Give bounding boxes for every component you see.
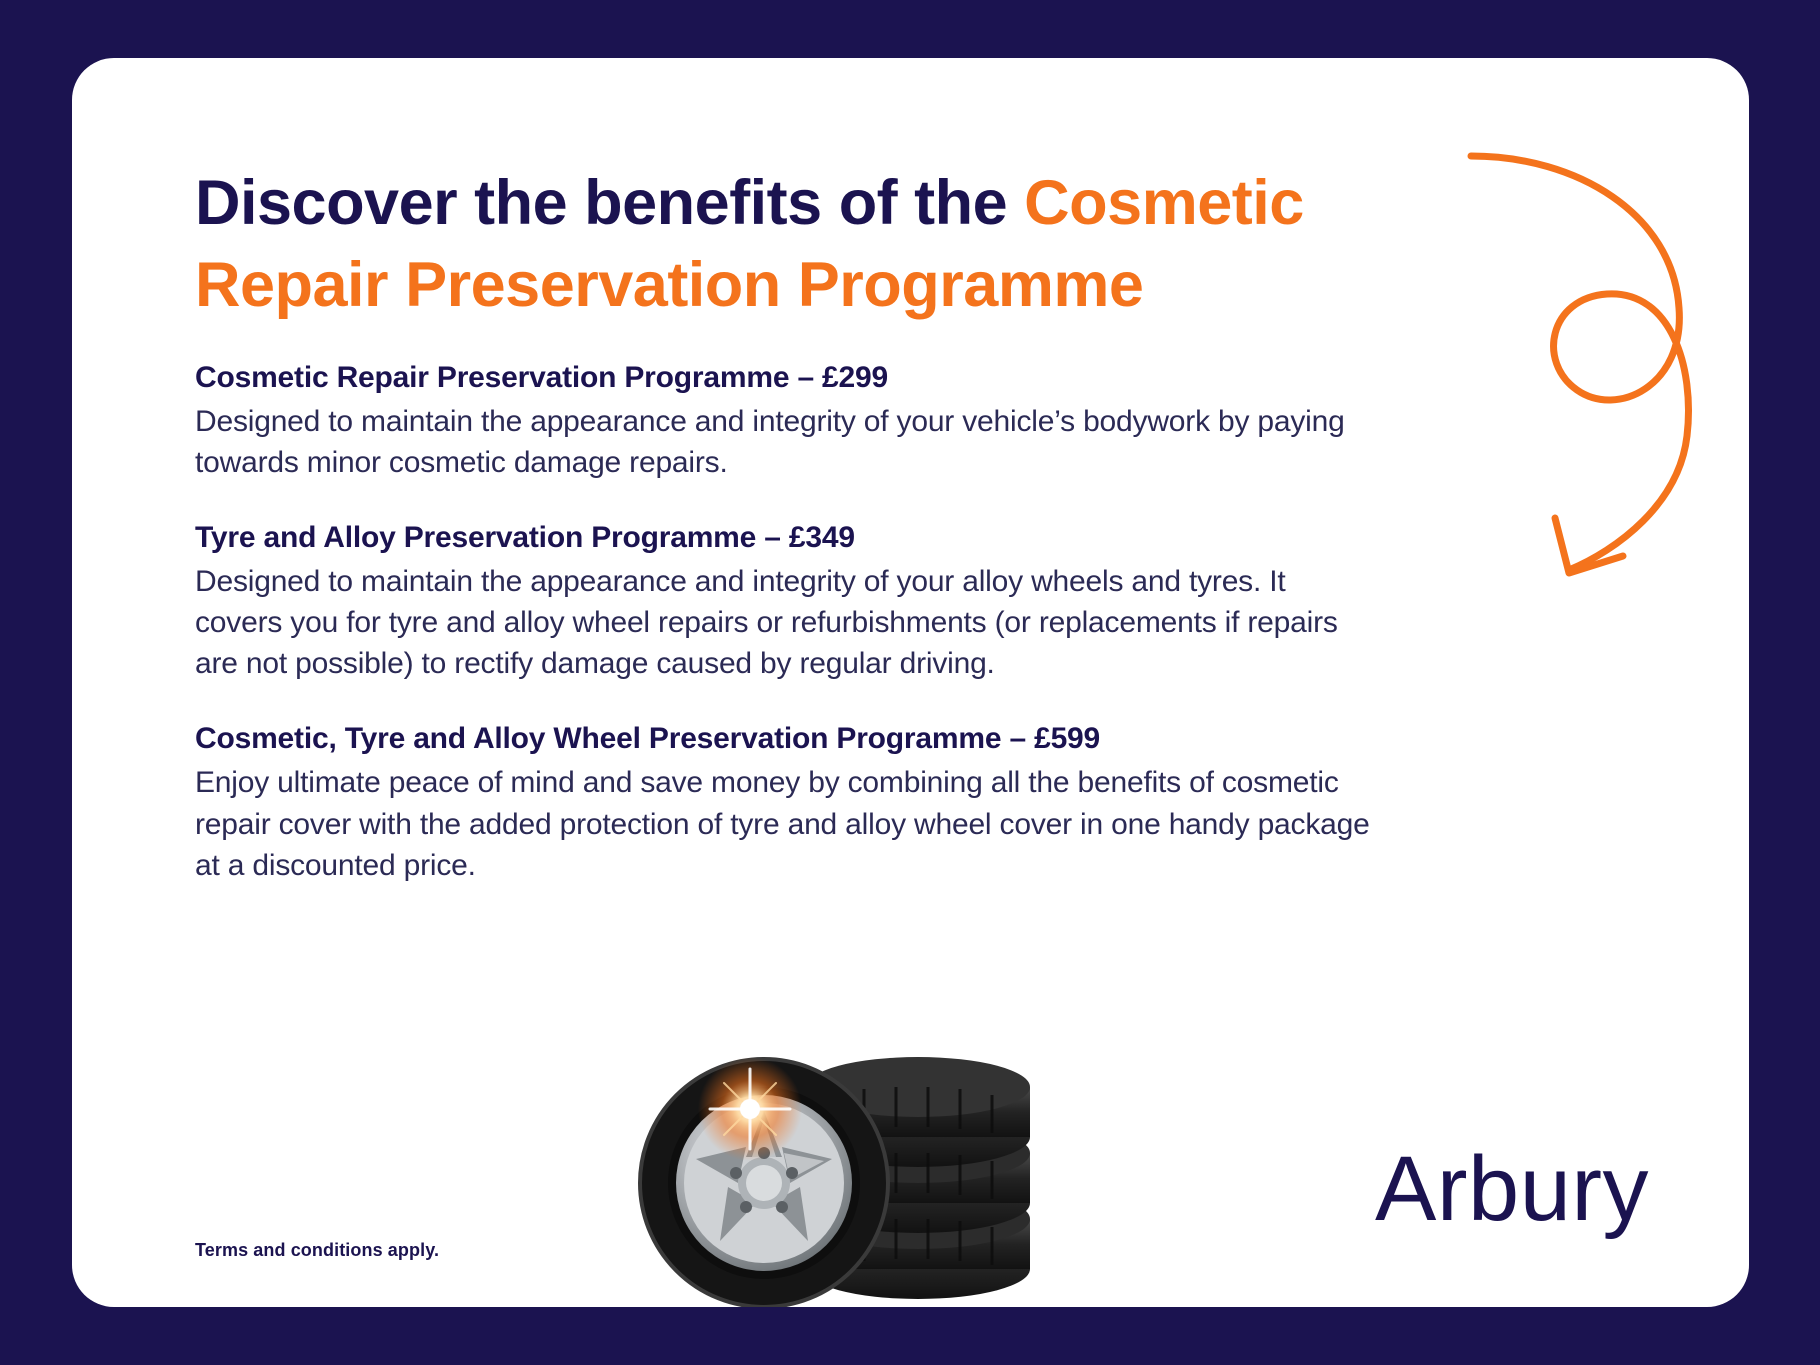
content-card: Discover the benefits of the Cosmetic Re…: [72, 58, 1749, 1307]
headline-lead: Discover the benefits of the: [195, 168, 1024, 238]
terms-text: Terms and conditions apply.: [195, 1240, 439, 1261]
benefit-body: Designed to maintain the appearance and …: [195, 401, 1375, 483]
page-title: Discover the benefits of the Cosmetic Re…: [195, 163, 1445, 327]
benefit-title: Cosmetic, Tyre and Alloy Wheel Preservat…: [195, 722, 1375, 756]
benefit-body: Designed to maintain the appearance and …: [195, 561, 1375, 684]
headline-accent-programme: Repair Preservation Programme: [195, 250, 1143, 320]
benefit-title: Tyre and Alloy Preservation Programme – …: [195, 521, 1375, 555]
headline-accent-cosmetic: Cosmetic: [1024, 168, 1304, 238]
benefit-section: Cosmetic, Tyre and Alloy Wheel Preservat…: [195, 722, 1375, 885]
benefit-section: Cosmetic Repair Preservation Programme –…: [195, 361, 1375, 483]
benefit-title: Cosmetic Repair Preservation Programme –…: [195, 361, 1375, 395]
poster-root: Discover the benefits of the Cosmetic Re…: [0, 0, 1820, 1365]
benefit-body: Enjoy ultimate peace of mind and save mo…: [195, 762, 1375, 885]
swirl-arrow-icon: [1457, 118, 1707, 588]
tyre-stack-image: [632, 1007, 1052, 1307]
benefits-list: Cosmetic Repair Preservation Programme –…: [195, 361, 1375, 886]
arbury-logo: Arbury: [1375, 1143, 1649, 1235]
benefit-section: Tyre and Alloy Preservation Programme – …: [195, 521, 1375, 684]
